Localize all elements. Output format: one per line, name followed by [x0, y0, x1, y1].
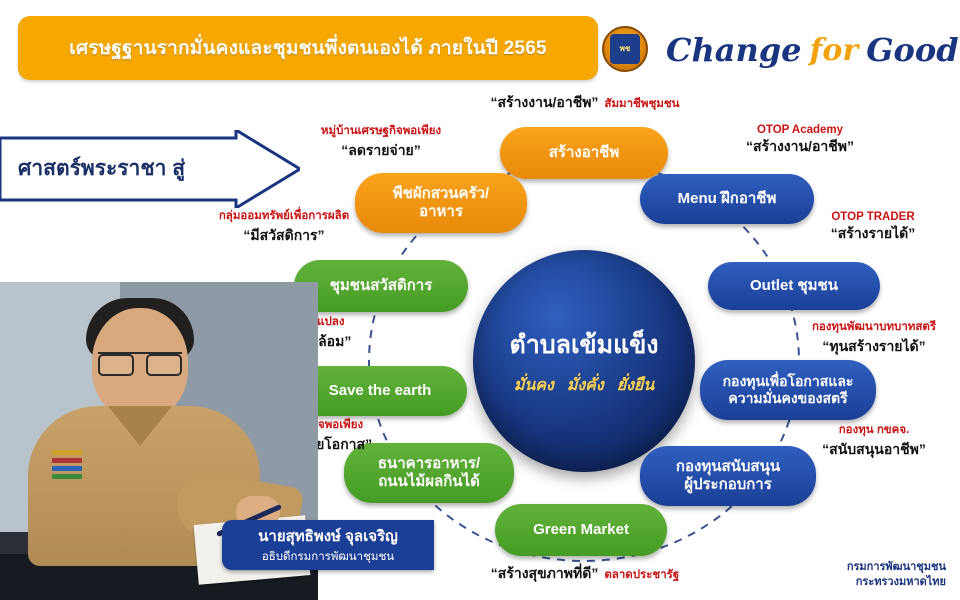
node-menu-fuek-label: Menu ฝึกอาชีพ [678, 190, 777, 208]
cap-sang-ngan-top: “สร้างงาน/อาชีพ” สัมมาชีพชุมชน [440, 92, 730, 114]
slogan-good: Good [866, 31, 958, 69]
cap-lod-raijai-red: หมู่บ้านเศรษฐกิจพอเพียง [278, 122, 484, 140]
node-thanakhan-ahan-label: ธนาคารอาหาร/ ถนนไม้ผลกินได้ [378, 455, 480, 492]
cap-otop-trader-black: “สร้างรายได้” [792, 223, 954, 245]
cap-otop-trader-red: OTOP TRADER [792, 211, 954, 223]
cap-sanap-archeep: กองทุน กขคจ. “สนับสนุนอาชีพ” [790, 421, 958, 461]
cap-otop-trader: OTOP TRADER “สร้างรายได้” [792, 211, 954, 245]
cap-mee-sawat-black: “มีสวัสดิการ” [176, 225, 392, 247]
cap-mee-sawat-red: กลุ่มออมทรัพย์เพื่อการผลิต [176, 207, 392, 225]
node-outlet-label: Outlet ชุมชน [750, 277, 838, 295]
cap-sang-ngan-top-black: “สร้างงาน/อาชีพ” [491, 92, 599, 114]
cap-sukhaphap-red: ตลาดประชารัฐ [604, 566, 679, 584]
cap-lod-raijai: หมู่บ้านเศรษฐกิจพอเพียง “ลดรายจ่าย” [278, 122, 484, 162]
node-green-market-label: Green Market [533, 521, 629, 539]
speaker-title: อธิบดีกรมการพัฒนาชุมชน [262, 548, 394, 566]
cap-sukhaphap-black: “สร้างสุขภาพที่ดี” [491, 563, 599, 585]
node-green-market[interactable]: Green Market [495, 504, 667, 556]
speaker-name-plate: นายสุทธิพงษ์ จุลเจริญ อธิบดีกรมการพัฒนาช… [222, 520, 434, 570]
speaker-name: นายสุทธิพงษ์ จุลเจริญ [258, 524, 398, 548]
seal-label: พช [610, 34, 640, 64]
node-chumchon-sawat-label: ชุมชนสวัสดิการ [330, 277, 433, 295]
node-save-the-earth-label: Save the earth [329, 382, 432, 400]
banner-title: เศรษฐฐานรากมั่นคงและชุมชนพึ่งตนเองได้ ภา… [69, 33, 546, 63]
node-kongtun-okat[interactable]: กองทุนเพื่อโอกาสและ ความมั่นคงของสตรี [700, 360, 876, 420]
node-kongtun-sanap-label: กองทุนสนับสนุน ผู้ประกอบการ [676, 458, 780, 495]
footer-line-1: กรมการพัฒนาชุมชน [847, 560, 946, 575]
center-sub-2: มั่งคั่ง [567, 373, 604, 398]
node-save-the-earth[interactable]: Save the earth [293, 366, 467, 416]
cap-otop-academy: OTOP Academy “สร้างงาน/อาชีพ” [700, 124, 900, 158]
node-phuet-phak-label: พืชผักสวนครัว/ อาหาร [393, 185, 489, 222]
slogan-for: for [809, 33, 858, 68]
node-kongtun-okat-label: กองทุนเพื่อโอกาสและ ความมั่นคงของสตรี [723, 373, 854, 407]
arrow-label: ศาสตร์พระราชา สู่ [18, 152, 248, 185]
glasses-icon [98, 352, 182, 370]
change-for-good-slogan: Change for Good [666, 22, 956, 78]
department-seal-icon: พช [602, 26, 648, 72]
footer-line-2: กระทรวงมหาดไทย [847, 575, 946, 590]
cap-sang-ngan-top-red: สัมมาชีพชุมชน [604, 95, 679, 113]
banner-pill: เศรษฐฐานรากมั่นคงและชุมชนพึ่งตนเองได้ ภา… [18, 16, 598, 80]
center-title: ตำบลเข้มแข็ง [510, 325, 659, 365]
cap-mee-sawat: กลุ่มออมทรัพย์เพื่อการผลิต “มีสวัสดิการ” [176, 207, 392, 247]
cap-tun-sang-raidai: กองทุนพัฒนาบทบาทสตรี “ทุนสร้างรายได้” [788, 318, 960, 358]
center-subtitle: มั่นคง มั่งคั่ง ยั่งยืน [514, 373, 654, 398]
cap-sanap-archeep-black: “สนับสนุนอาชีพ” [790, 439, 958, 461]
cap-lod-raijai-black: “ลดรายจ่าย” [278, 140, 484, 162]
node-sang-archeep[interactable]: สร้างอาชีพ [500, 127, 668, 179]
node-menu-fuek[interactable]: Menu ฝึกอาชีพ [640, 174, 814, 224]
left-arrow-banner: ศาสตร์พระราชา สู่ [0, 130, 300, 208]
cap-tun-sang-raidai-red: กองทุนพัฒนาบทบาทสตรี [788, 318, 960, 336]
cap-sukhaphap: “สร้างสุขภาพที่ดี” ตลาดประชารัฐ [440, 563, 730, 585]
node-chumchon-sawat[interactable]: ชุมชนสวัสดิการ [294, 260, 468, 312]
cap-otop-academy-black: “สร้างงาน/อาชีพ” [700, 136, 900, 158]
center-sub-1: มั่นคง [514, 373, 554, 398]
slogan-change: Change [666, 31, 801, 69]
node-outlet[interactable]: Outlet ชุมชน [708, 262, 880, 310]
diagram-canvas: เศรษฐฐานรากมั่นคงและชุมชนพึ่งตนเองได้ ภา… [0, 0, 960, 600]
center-sub-3: ยั่งยืน [617, 373, 655, 398]
center-node-tambon[interactable]: ตำบลเข้มแข็ง มั่นคง มั่งคั่ง ยั่งยืน [473, 250, 695, 472]
cap-tun-sang-raidai-black: “ทุนสร้างรายได้” [788, 336, 960, 358]
photo-ribbon-badges [52, 450, 86, 476]
header-banner: เศรษฐฐานรากมั่นคงและชุมชนพึ่งตนเองได้ ภา… [18, 16, 942, 80]
node-sang-archeep-label: สร้างอาชีพ [549, 144, 619, 162]
footer-credit: กรมการพัฒนาชุมชน กระทรวงมหาดไทย [847, 560, 946, 590]
cap-sanap-archeep-red: กองทุน กขคจ. [790, 421, 958, 439]
cap-otop-academy-red: OTOP Academy [700, 124, 900, 136]
